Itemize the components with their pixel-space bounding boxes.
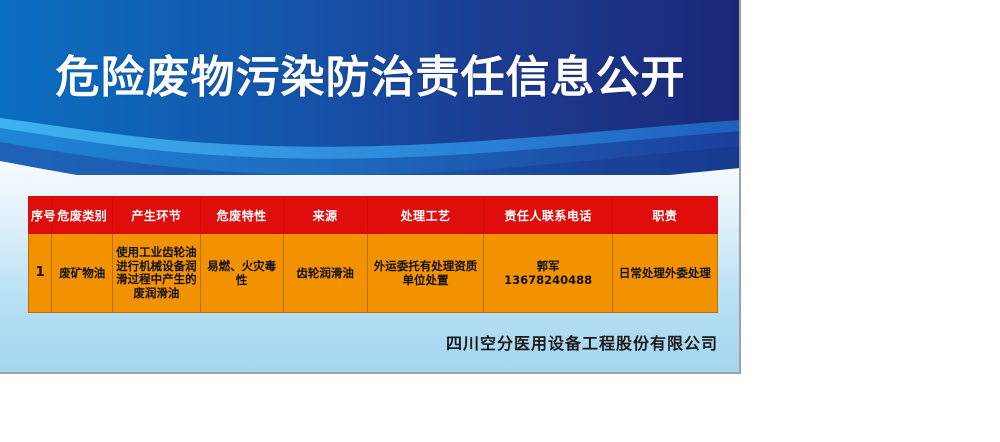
table-header-row: 序号 危废类别 产生环节 危废特性 来源 处理工艺 责任人联系电话 职责: [29, 197, 718, 234]
table-row: 1 废矿物油 使用工业齿轮油进行机械设备润滑过程中产生的废润滑油 易燃、火灾毒性…: [29, 234, 718, 313]
cell-index: 1: [29, 234, 52, 313]
column-header-contact: 责任人联系电话: [484, 197, 612, 234]
cell-category: 废矿物油: [52, 234, 113, 313]
cell-responsible-contact: 郭军 13678240488: [484, 234, 612, 313]
cell-duty: 日常处理外委处理: [612, 234, 717, 313]
column-header-generation: 产生环节: [113, 197, 201, 234]
responsible-person-name: 郭军: [487, 259, 608, 273]
column-header-category: 危废类别: [52, 197, 113, 234]
company-name: 四川空分医用设备工程股份有限公司: [0, 330, 718, 354]
poster-canvas: 危险废物污染防治责任信息公开 序号 危废类别 产生环节 危废特性 来源 处理工艺…: [0, 0, 741, 374]
column-header-hazard: 危废特性: [200, 197, 283, 234]
responsible-person-phone: 13678240488: [487, 273, 608, 287]
column-header-duty: 职责: [612, 197, 717, 234]
cell-generation-stage: 使用工业齿轮油进行机械设备润滑过程中产生的废润滑油: [113, 234, 201, 313]
cell-hazard-property: 易燃、火灾毒性: [200, 234, 283, 313]
column-header-index: 序号: [29, 197, 52, 234]
column-header-treatment: 处理工艺: [367, 197, 484, 234]
hazardous-waste-table: 序号 危废类别 产生环节 危废特性 来源 处理工艺 责任人联系电话 职责 1 废…: [28, 196, 718, 313]
cell-source: 齿轮润滑油: [283, 234, 367, 313]
cell-treatment-process: 外运委托有处理资质单位处置: [367, 234, 484, 313]
page-title: 危险废物污染防治责任信息公开: [0, 52, 741, 104]
column-header-source: 来源: [283, 197, 367, 234]
